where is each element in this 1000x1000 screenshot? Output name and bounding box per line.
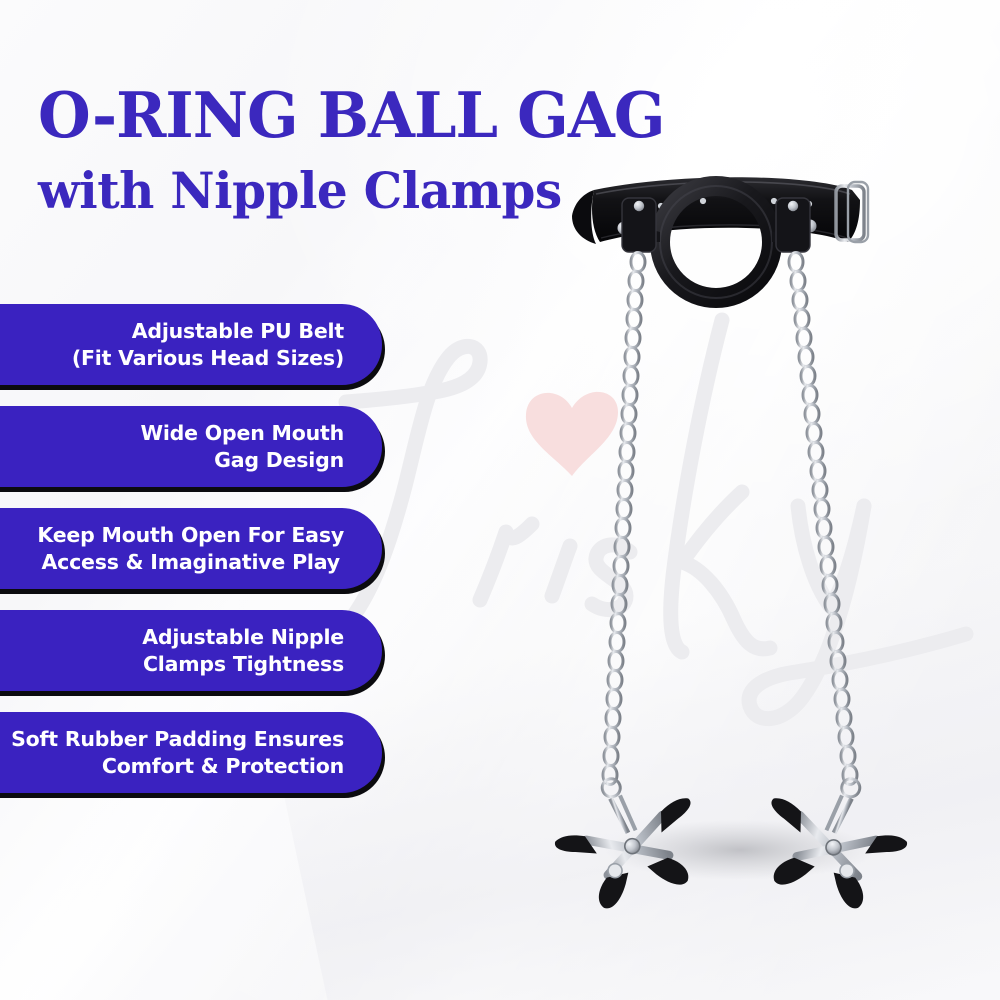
feature-list: Adjustable PU Belt (Fit Various Head Siz… — [0, 304, 400, 814]
pill-body[interactable]: Adjustable PU Belt (Fit Various Head Siz… — [0, 304, 382, 385]
product-image — [560, 150, 920, 910]
pill-body[interactable]: Adjustable Nipple Clamps Tightness — [0, 610, 382, 691]
feature-text: Wide Open Mouth Gag Design — [140, 420, 344, 472]
product-title-main: O-RING BALL GAG — [38, 84, 614, 147]
feature-pill-soft-rubber-padding[interactable]: Soft Rubber Padding Ensures Comfort & Pr… — [0, 712, 400, 793]
feature-pill-wide-open-mouth[interactable]: Wide Open Mouth Gag Design — [0, 406, 400, 487]
feature-pill-keep-mouth-open[interactable]: Keep Mouth Open For Easy Access & Imagin… — [0, 508, 400, 589]
page-title: O-RING BALL GAG with Nipple Clamps — [38, 84, 638, 218]
pill-body[interactable]: Wide Open Mouth Gag Design — [0, 406, 382, 487]
feature-text: Keep Mouth Open For Easy Access & Imagin… — [37, 522, 344, 574]
feature-pill-adjustable-pu-belt[interactable]: Adjustable PU Belt (Fit Various Head Siz… — [0, 304, 400, 385]
infographic-canvas: O-RING BALL GAG with Nipple Clamps Adjus… — [0, 0, 1000, 1000]
pill-body[interactable]: Keep Mouth Open For Easy Access & Imagin… — [0, 508, 382, 589]
product-title-sub: with Nipple Clamps — [38, 165, 620, 218]
chain-right — [789, 253, 857, 785]
chain-left — [603, 253, 645, 785]
feature-text: Adjustable Nipple Clamps Tightness — [142, 624, 344, 676]
feature-pill-adjustable-clamp-tightness[interactable]: Adjustable Nipple Clamps Tightness — [0, 610, 400, 691]
feature-text: Adjustable PU Belt (Fit Various Head Siz… — [72, 318, 344, 370]
pill-body[interactable]: Soft Rubber Padding Ensures Comfort & Pr… — [0, 712, 382, 793]
feature-text: Soft Rubber Padding Ensures Comfort & Pr… — [11, 726, 344, 778]
